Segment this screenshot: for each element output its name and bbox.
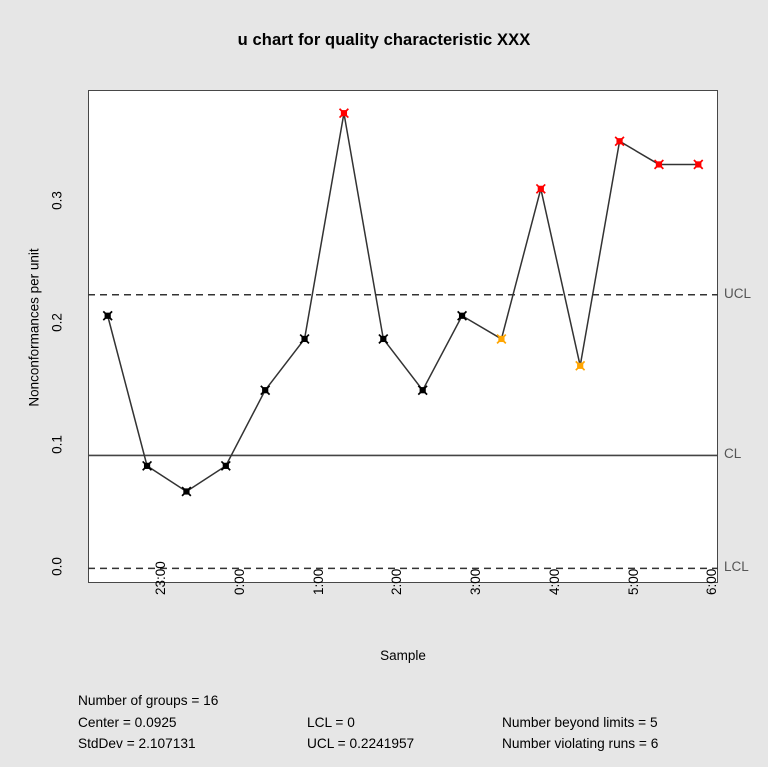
x-tick-label: 23:00 xyxy=(153,561,168,595)
y-tick-label: 0.1 xyxy=(50,425,65,465)
stats-line: StdDev = 2.107131 xyxy=(78,733,218,755)
y-tick-label: 0.0 xyxy=(50,547,65,587)
data-point[interactable] xyxy=(418,386,427,395)
data-point[interactable] xyxy=(143,461,152,470)
x-tick-label: 2:00 xyxy=(389,569,404,595)
stats-line: Number of groups = 16 xyxy=(78,690,218,712)
ucl-label: UCL xyxy=(724,286,751,301)
x-tick-label: 5:00 xyxy=(626,569,641,595)
data-point[interactable] xyxy=(576,361,585,370)
stats-column-general: Number of groups = 16Center = 0.0925StdD… xyxy=(78,690,218,755)
x-axis-label: Sample xyxy=(88,648,718,663)
data-series-line xyxy=(108,113,699,491)
x-tick-label: 6:00 xyxy=(704,569,719,595)
y-tick-label: 0.2 xyxy=(50,303,65,343)
data-point[interactable] xyxy=(694,160,703,169)
data-point[interactable] xyxy=(655,160,664,169)
x-tick-label: 4:00 xyxy=(547,569,562,595)
x-tick-label: 0:00 xyxy=(232,569,247,595)
y-axis-label: Nonconformances per unit xyxy=(27,228,42,428)
u-chart-page: u chart for quality characteristic XXX N… xyxy=(0,0,768,767)
cl-label: CL xyxy=(724,446,741,461)
data-point[interactable] xyxy=(536,184,545,193)
control-chart-plot xyxy=(88,90,718,583)
data-point[interactable] xyxy=(458,311,467,320)
data-point[interactable] xyxy=(182,487,191,496)
data-point[interactable] xyxy=(261,386,270,395)
stats-line: Center = 0.0925 xyxy=(78,712,218,734)
statistics-summary: Number of groups = 16Center = 0.0925StdD… xyxy=(0,690,768,767)
stats-column-limits: LCL = 0UCL = 0.2241957 xyxy=(307,690,414,755)
x-tick-label: 1:00 xyxy=(311,569,326,595)
stats-line: UCL = 0.2241957 xyxy=(307,733,414,755)
stats-line: Number violating runs = 6 xyxy=(502,733,658,755)
data-point[interactable] xyxy=(221,461,230,470)
stats-line: LCL = 0 xyxy=(307,712,414,734)
data-point[interactable] xyxy=(615,137,624,146)
data-point[interactable] xyxy=(497,335,506,344)
data-point[interactable] xyxy=(379,335,388,344)
data-point[interactable] xyxy=(340,109,349,118)
stats-column-violations: Number beyond limits = 5Number violating… xyxy=(502,690,658,755)
page-title: u chart for quality characteristic XXX xyxy=(0,31,768,50)
data-point[interactable] xyxy=(300,335,309,344)
lcl-label: LCL xyxy=(724,559,749,574)
stats-line: Number beyond limits = 5 xyxy=(502,712,658,734)
data-point[interactable] xyxy=(103,311,112,320)
x-tick-label: 3:00 xyxy=(468,569,483,595)
y-tick-label: 0.3 xyxy=(50,181,65,221)
